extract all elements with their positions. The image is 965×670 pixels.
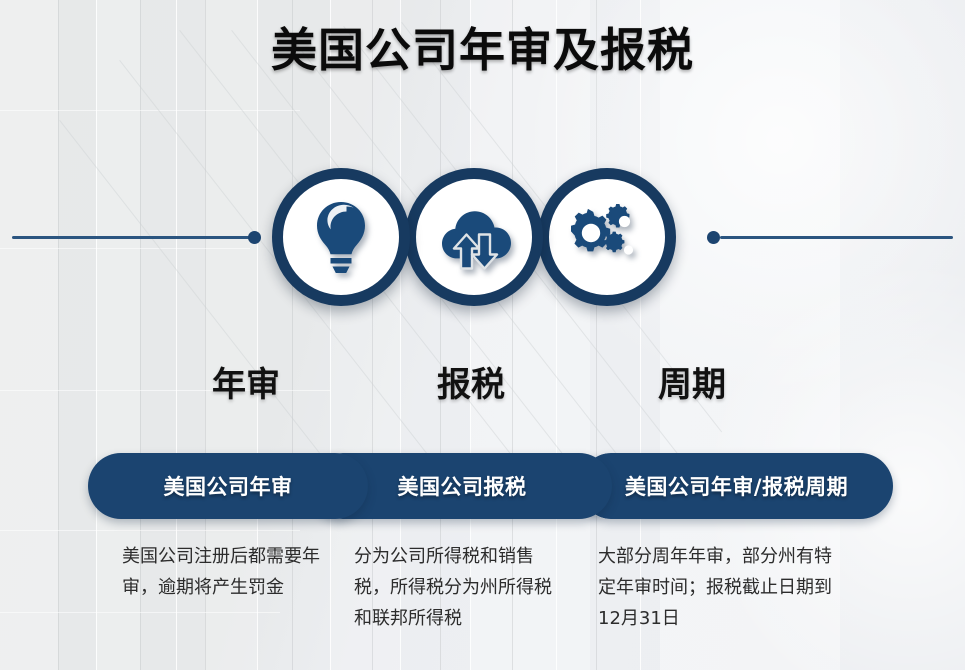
ribbon-pill-annual-review[interactable]: 美国公司年审 [88,453,368,519]
icon-circle-cycle[interactable] [538,168,676,306]
section-body-tax-filing: 分为公司所得税和销售税，所得税分为州所得税和联邦所得税 [354,541,566,634]
ribbon-pill-cycle[interactable]: 美国公司年审/报税周期 [578,453,893,519]
timeline-rail-left [12,236,254,239]
timeline-rail-right [720,236,953,239]
section-body-annual-review: 美国公司注册后都需要年审，逾期将产生罚金 [122,541,344,603]
icon-circle-tax-filing[interactable] [405,168,543,306]
timeline-dot-right [707,231,720,244]
page-title: 美国公司年审及报税 [0,20,965,80]
ribbon-pill-annual-review-label: 美国公司年审 [164,471,293,501]
section-heading-annual-review: 年审 [212,363,280,407]
gears-icon [567,201,647,273]
infographic-canvas: 美国公司年审及报税 [0,0,965,670]
section-body-cycle: 大部分周年年审，部分州有特定年审时间；报税截止日期到12月31日 [598,541,848,634]
lightbulb-icon [308,199,374,275]
timeline-dot-left [248,231,261,244]
section-heading-tax-filing: 报税 [437,363,505,407]
section-heading-cycle: 周期 [658,363,726,407]
ribbon-pill-tax-filing-label: 美国公司报税 [398,471,527,501]
ribbon-pill-cycle-label: 美国公司年审/报税周期 [625,471,848,501]
cloud-sync-icon [434,201,514,273]
icon-circle-annual-review[interactable] [272,168,410,306]
ribbon-group: 美国公司年审/报税周期 美国公司报税 美国公司年审 [88,453,891,519]
